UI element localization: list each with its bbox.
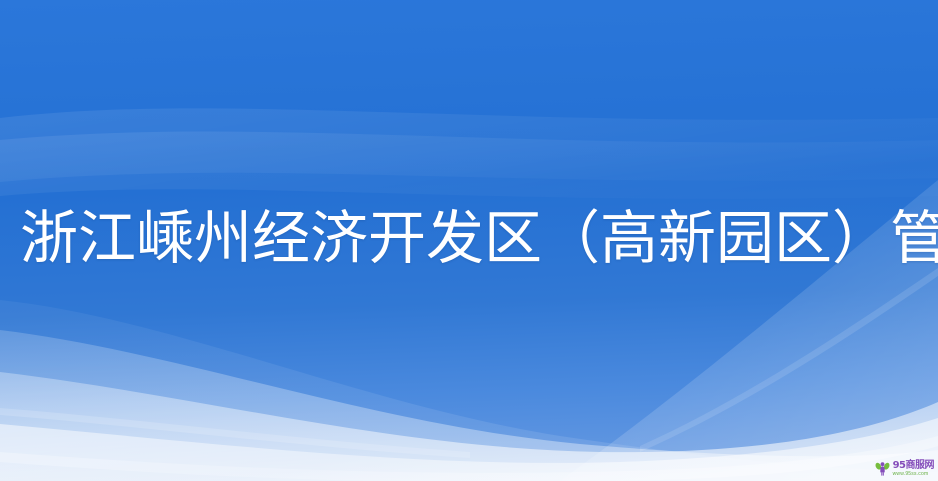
watermark: 95商服网 www.95ss.com [875,461,934,477]
site-banner: 浙江嵊州经济开发区（高新园区）管理委员会 95商服网 www.95ss.com [0,0,938,481]
watermark-name: 95商服网 [893,461,934,471]
banner-wave-decoration [0,0,938,481]
watermark-url: www.95ss.com [893,472,934,477]
leaf-person-icon [875,461,890,477]
watermark-text-block: 95商服网 www.95ss.com [893,461,934,477]
